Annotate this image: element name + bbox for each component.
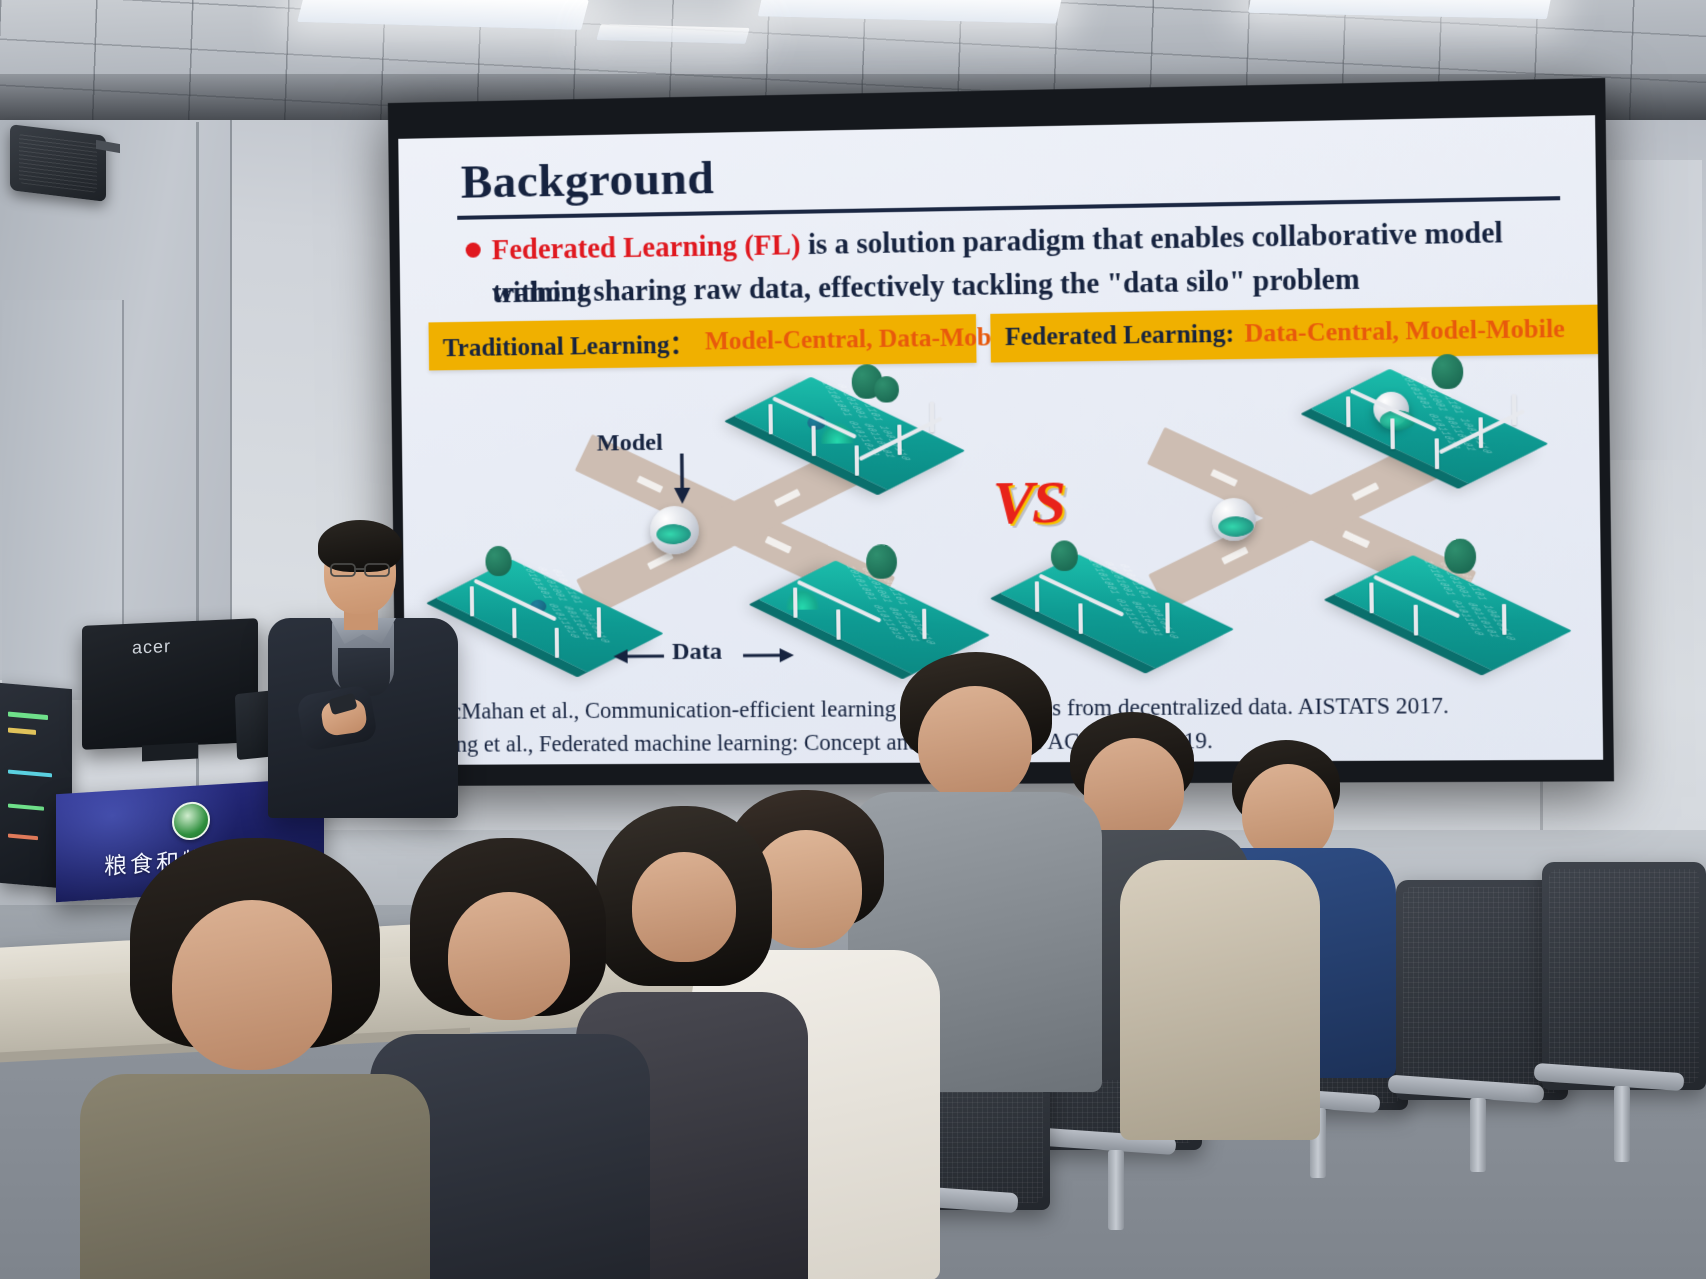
vs-label: VS bbox=[992, 467, 1064, 538]
data-arrow-right-icon bbox=[741, 644, 796, 667]
desktop-monitor: acer bbox=[82, 618, 258, 750]
diagram-federated: 01001101 10010110 01101001 00110101 1010… bbox=[1065, 362, 1603, 674]
data-arrow-left-icon bbox=[611, 645, 666, 668]
data-label: Data bbox=[672, 639, 722, 667]
data-field-bottom-right: 01001101 10010110 01101001 00110101 1010… bbox=[1367, 558, 1579, 666]
banner-right-value: Data-Central, Model-Mobile bbox=[1244, 315, 1565, 348]
model-sphere-icon bbox=[650, 506, 699, 555]
tree-icon bbox=[1444, 539, 1476, 574]
slide-diagram: 01001101 10010110 01101001 00110101 1010… bbox=[427, 362, 1602, 678]
bullet-dot-icon bbox=[466, 242, 481, 257]
data-field-bottom-left: 01001101 10010110 01101001 00110101 1010… bbox=[1032, 557, 1240, 665]
banner-left-label: Traditional Learning： bbox=[443, 324, 696, 364]
data-field-top-right: 01001101 10010110 01101001 00110101 1010… bbox=[766, 379, 972, 487]
banner-right-label: Federated Learning: bbox=[1005, 320, 1234, 352]
banner-traditional-learning: Traditional Learning： Model-Central, Dat… bbox=[428, 314, 976, 370]
tree-icon bbox=[485, 546, 511, 576]
model-label: Model bbox=[597, 430, 663, 458]
tree-icon bbox=[1431, 354, 1463, 389]
model-arrow-icon bbox=[670, 453, 699, 506]
tree-icon bbox=[874, 376, 899, 403]
banner-federated-learning: Federated Learning: Data-Central, Model-… bbox=[990, 305, 1598, 363]
banner-left-value: Model-Central, Data-Mobile bbox=[705, 324, 1017, 357]
data-field-top-right: 01001101 10010110 01101001 00110101 1010… bbox=[1344, 371, 1556, 480]
monitor-brand-label: acer bbox=[132, 636, 171, 659]
diagram-traditional: 01001101 10010110 01101001 00110101 1010… bbox=[495, 370, 1027, 678]
model-sphere-icon bbox=[1212, 498, 1256, 541]
tree-icon bbox=[1051, 540, 1078, 571]
tree-icon bbox=[866, 544, 897, 579]
slide-title: Background bbox=[460, 151, 714, 210]
wall-speaker bbox=[10, 124, 106, 202]
glasses-icon bbox=[330, 562, 390, 578]
fl-term: Federated Learning (FL) bbox=[492, 230, 801, 266]
monitor-stand bbox=[142, 743, 198, 762]
lecture-hall-photo: Background Federated Learning (FL) is a … bbox=[0, 0, 1706, 1279]
